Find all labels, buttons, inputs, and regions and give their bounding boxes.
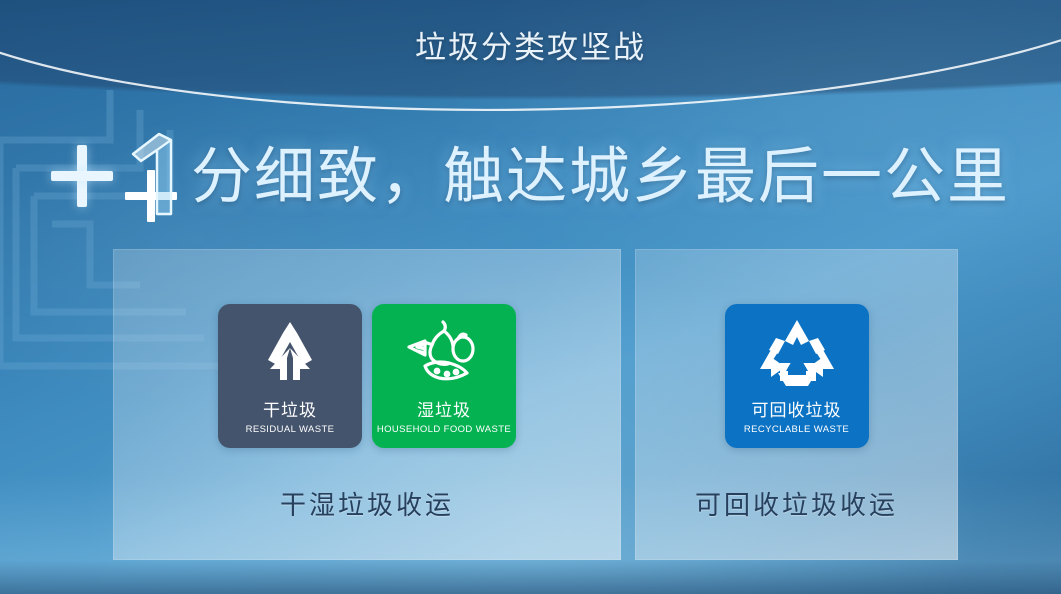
headline-text: 分细致，触达城乡最后一公里	[191, 141, 1010, 211]
residual-waste-icon	[218, 304, 362, 401]
panel-dry-wet-collection[interactable]: 干垃圾 RESIDUAL WASTE	[113, 249, 621, 560]
tile-label-en: RECYCLABLE WASTE	[744, 424, 849, 436]
tile-residual-waste[interactable]: 干垃圾 RESIDUAL WASTE	[218, 304, 362, 448]
tile-group-left: 干垃圾 RESIDUAL WASTE	[218, 304, 516, 448]
panel-group: 干垃圾 RESIDUAL WASTE	[113, 249, 958, 560]
tile-household-food-waste[interactable]: 湿垃圾 HOUSEHOLD FOOD WASTE	[372, 304, 516, 448]
tile-label-cn: 可回收垃圾	[752, 401, 842, 421]
tile-label-cn: 湿垃圾	[417, 401, 471, 421]
food-waste-icon	[372, 304, 516, 401]
headline-number-one-icon	[119, 128, 189, 224]
slide-canvas: 垃圾分类攻坚战 分细致，触达城乡最后一公里	[0, 0, 1061, 594]
panel-caption-recyclable: 可回收垃圾收运	[695, 485, 898, 522]
tile-label-en: HOUSEHOLD FOOD WASTE	[377, 424, 511, 436]
headline-plus-icon	[51, 145, 113, 207]
tile-label-cn: 干垃圾	[263, 401, 317, 421]
recycle-loop-icon	[725, 304, 869, 401]
page-title: 垃圾分类攻坚战	[0, 22, 1061, 67]
panel-recyclable-collection[interactable]: 可回收垃圾 RECYCLABLE WASTE 可回收垃圾收运	[635, 249, 958, 560]
headline: 分细致，触达城乡最后一公里	[0, 128, 1061, 224]
tile-label-en: RESIDUAL WASTE	[246, 424, 335, 436]
tile-group-right: 可回收垃圾 RECYCLABLE WASTE	[725, 304, 869, 448]
background-bottom-shade	[0, 560, 1061, 594]
tile-recyclable-waste[interactable]: 可回收垃圾 RECYCLABLE WASTE	[725, 304, 869, 448]
panel-caption-dry-wet: 干湿垃圾收运	[280, 485, 454, 522]
